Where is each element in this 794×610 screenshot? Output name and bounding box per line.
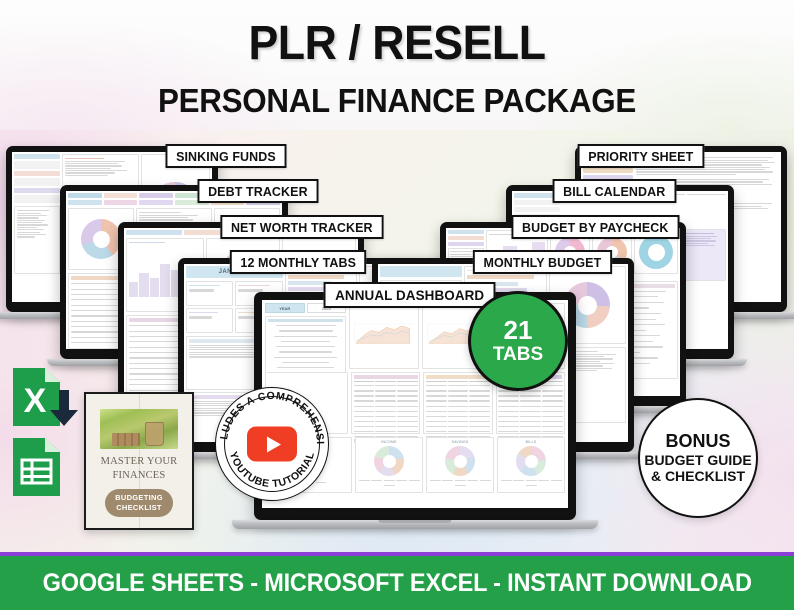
youtube-play-icon [247, 427, 297, 462]
label-text: MONTHLY BUDGET [483, 255, 601, 270]
label-budget-by-paycheck: BUDGET BY PAYCHECK [511, 215, 679, 239]
booklet-title-line-1: MASTER YOUR [86, 456, 192, 467]
label-text: DEBT TRACKER [208, 184, 308, 199]
svg-text:X: X [24, 382, 47, 420]
tabs-count-badge: 21 TABS [468, 291, 568, 391]
tabs-count-number: 21 [504, 317, 533, 343]
label-text: BILL CALENDAR [563, 184, 665, 199]
booklet-photo [100, 409, 178, 449]
pill-line-2: CHECKLIST [116, 503, 162, 513]
label-text: PRIORITY SHEET [588, 149, 693, 164]
label-priority-sheet: PRIORITY SHEET [578, 144, 704, 168]
donut-title-bills: BILLS [526, 440, 537, 444]
product-listing-image: PLR / RESELL PERSONAL FINANCE PACKAGE [0, 0, 794, 610]
youtube-tutorial-stamp: INCLUDES A COMPREHENSIVE YOUTUBE TUTORIA… [215, 387, 329, 501]
download-arrow-icon [48, 390, 80, 426]
bonus-line-1: BONUS [665, 431, 730, 452]
bonus-badge: BONUS BUDGET GUIDE & CHECKLIST [638, 398, 758, 518]
footer-banner: GOOGLE SHEETS - MICROSOFT EXCEL - INSTAN… [0, 556, 794, 610]
label-bill-calendar: BILL CALENDAR [553, 179, 676, 203]
money-jar-graphic [145, 422, 164, 446]
label-debt-tracker: DEBT TRACKER [198, 179, 319, 203]
label-text: 12 MONTHLY TABS [240, 255, 356, 270]
donut-title-income: INCOME [381, 440, 396, 444]
year-label: YEAR [279, 306, 290, 311]
booklet-title-line-2: FINANCES [86, 470, 192, 481]
label-net-worth-tracker: NET WORTH TRACKER [220, 215, 383, 239]
bonus-line-2: BUDGET GUIDE [644, 452, 751, 469]
area-chart [352, 310, 416, 356]
booklet-pill: BUDGETING CHECKLIST [105, 489, 173, 517]
label-monthly-budget: MONTHLY BUDGET [473, 250, 612, 274]
pill-line-1: BUDGETING [115, 493, 163, 503]
footer-text: GOOGLE SHEETS - MICROSOFT EXCEL - INSTAN… [42, 569, 751, 598]
header-band: PLR / RESELL PERSONAL FINANCE PACKAGE [0, 0, 794, 130]
label-sinking-funds: SINKING FUNDS [166, 144, 287, 168]
label-12-monthly-tabs: 12 MONTHLY TABS [230, 250, 367, 274]
coins-graphic [112, 433, 140, 446]
laptop-base [232, 520, 598, 529]
label-text: ANNUAL DASHBOARD [335, 287, 484, 303]
label-text: BUDGET BY PAYCHECK [522, 220, 668, 235]
donut-title-savings: SAVINGS [452, 440, 469, 444]
label-text: SINKING FUNDS [176, 149, 276, 164]
google-sheets-icon [13, 438, 60, 496]
page-title: PLR / RESELL [28, 16, 766, 71]
label-annual-dashboard: ANNUAL DASHBOARD [324, 282, 496, 308]
page-subtitle: PERSONAL FINANCE PACKAGE [20, 82, 774, 120]
tabs-count-word: TABS [493, 345, 543, 366]
bonus-line-3: & CHECKLIST [651, 468, 745, 485]
label-text: NET WORTH TRACKER [231, 220, 373, 235]
budgeting-checklist-booklet: MASTER YOUR FINANCES BUDGETING CHECKLIST [84, 392, 194, 530]
